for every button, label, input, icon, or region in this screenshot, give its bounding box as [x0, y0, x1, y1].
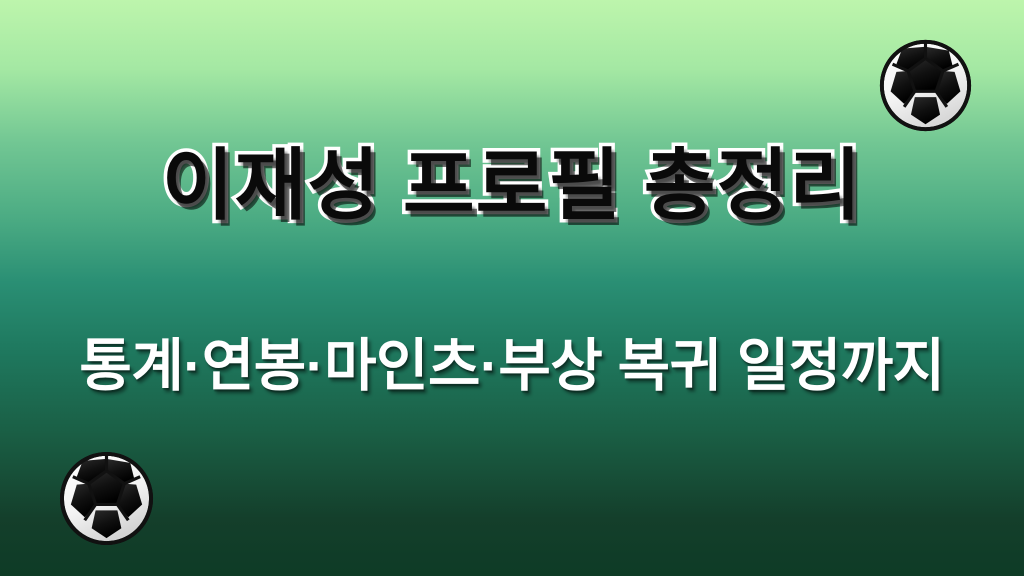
subtitle-text: 통계·연봉·마인츠·부상 복귀 일정까지	[79, 334, 944, 400]
soccer-ball-icon	[57, 449, 156, 548]
page-title: 이재성 프로필 총정리	[0, 142, 1024, 229]
title-text: 이재성 프로필 총정리	[162, 142, 862, 229]
page-subtitle: 통계·연봉·마인츠·부상 복귀 일정까지	[0, 334, 1024, 400]
thumbnail-card: 이재성 프로필 총정리 통계·연봉·마인츠·부상 복귀 일정까지	[0, 0, 1024, 576]
soccer-ball-icon	[877, 37, 974, 134]
